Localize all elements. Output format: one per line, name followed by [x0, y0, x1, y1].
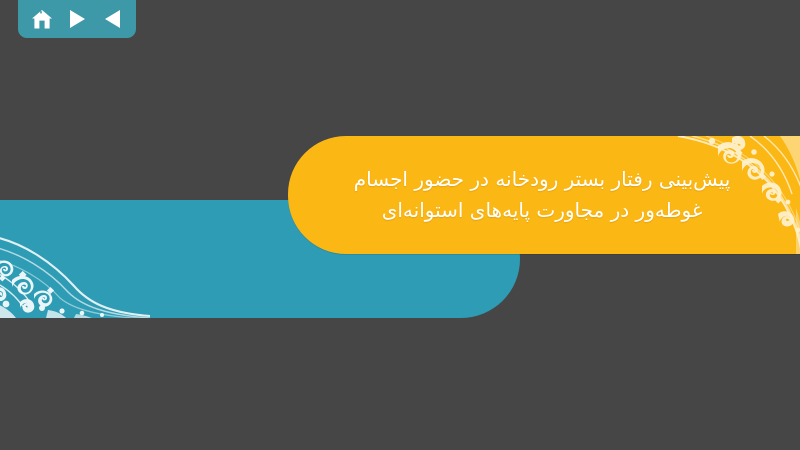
- home-button[interactable]: [28, 6, 56, 32]
- triangle-right-icon: [69, 9, 86, 29]
- triangle-left-icon: [104, 9, 121, 29]
- arabesque-ornament-icon: [0, 206, 150, 318]
- previous-button[interactable]: [98, 6, 126, 32]
- navigation-bar: [18, 0, 136, 38]
- presentation-slide: پیش‌بینی رفتار بستر رودخانه در حضور اجسا…: [0, 0, 800, 450]
- slide-title: پیش‌بینی رفتار بستر رودخانه در حضور اجسا…: [288, 136, 800, 254]
- title-line-2: غوطه‌ور در مجاورت پایه‌های استوانه‌ای: [382, 195, 703, 226]
- title-line-1: پیش‌بینی رفتار بستر رودخانه در حضور اجسا…: [354, 164, 731, 195]
- title-panel: پیش‌بینی رفتار بستر رودخانه در حضور اجسا…: [288, 136, 800, 254]
- next-button[interactable]: [63, 6, 91, 32]
- home-icon: [31, 9, 53, 30]
